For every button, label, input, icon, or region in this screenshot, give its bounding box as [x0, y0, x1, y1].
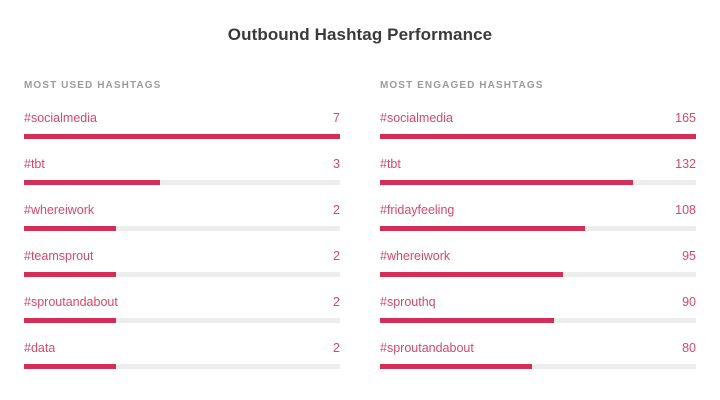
- bar-fill: [380, 318, 554, 323]
- bar-track: [380, 134, 696, 139]
- hashtag-label: #tbt: [24, 156, 45, 172]
- list-item[interactable]: #fridayfeeling 108: [380, 202, 696, 231]
- column-most-engaged: MOST ENGAGED HASHTAGS #socialmedia 165 #…: [380, 79, 696, 369]
- hashtag-value: 165: [665, 110, 696, 126]
- hashtag-label: #whereiwork: [24, 202, 94, 218]
- hashtag-value: 90: [672, 294, 696, 310]
- hashtag-value: 2: [323, 294, 340, 310]
- hashtag-value: 132: [665, 156, 696, 172]
- columns-container: MOST USED HASHTAGS #socialmedia 7 #tbt 3: [0, 79, 720, 369]
- bar-track: [380, 318, 696, 323]
- row-top: #sproutandabout 80: [380, 340, 696, 356]
- list-item[interactable]: #whereiwork 95: [380, 248, 696, 277]
- column-header-most-used: MOST USED HASHTAGS: [24, 79, 340, 93]
- bar-fill: [24, 318, 116, 323]
- hashtag-list-most-engaged: #socialmedia 165 #tbt 132: [380, 110, 696, 369]
- bar-track: [24, 180, 340, 185]
- bar-track: [24, 318, 340, 323]
- hashtag-label: #tbt: [380, 156, 401, 172]
- bar-track: [380, 180, 696, 185]
- list-item[interactable]: #sprouthq 90: [380, 294, 696, 323]
- row-top: #fridayfeeling 108: [380, 202, 696, 218]
- bar-fill: [24, 364, 116, 369]
- hashtag-label: #fridayfeeling: [380, 202, 454, 218]
- list-item[interactable]: #tbt 132: [380, 156, 696, 185]
- bar-fill: [380, 134, 696, 139]
- hashtag-value: 2: [323, 340, 340, 356]
- bar-track: [380, 272, 696, 277]
- row-top: #socialmedia 165: [380, 110, 696, 126]
- bar-fill: [380, 226, 585, 231]
- bar-track: [380, 364, 696, 369]
- row-top: #tbt 132: [380, 156, 696, 172]
- bar-track: [24, 134, 340, 139]
- list-item[interactable]: #socialmedia 165: [380, 110, 696, 139]
- row-top: #sprouthq 90: [380, 294, 696, 310]
- row-top: #tbt 3: [24, 156, 340, 172]
- hashtag-label: #data: [24, 340, 55, 356]
- hashtag-value: 3: [323, 156, 340, 172]
- bar-fill: [380, 364, 532, 369]
- hashtag-value: 2: [323, 202, 340, 218]
- row-top: #teamsprout 2: [24, 248, 340, 264]
- list-item[interactable]: #sproutandabout 80: [380, 340, 696, 369]
- bar-track: [380, 226, 696, 231]
- column-header-most-engaged: MOST ENGAGED HASHTAGS: [380, 79, 696, 93]
- page-title: Outbound Hashtag Performance: [0, 0, 720, 46]
- column-most-used: MOST USED HASHTAGS #socialmedia 7 #tbt 3: [24, 79, 340, 369]
- hashtag-value: 80: [672, 340, 696, 356]
- list-item[interactable]: #tbt 3: [24, 156, 340, 185]
- bar-fill: [24, 226, 116, 231]
- list-item[interactable]: #sproutandabout 2: [24, 294, 340, 323]
- list-item[interactable]: #data 2: [24, 340, 340, 369]
- hashtag-performance-report: Outbound Hashtag Performance MOST USED H…: [0, 0, 720, 400]
- row-top: #data 2: [24, 340, 340, 356]
- row-top: #whereiwork 2: [24, 202, 340, 218]
- row-top: #sproutandabout 2: [24, 294, 340, 310]
- bar-track: [24, 226, 340, 231]
- bar-track: [24, 364, 340, 369]
- row-top: #socialmedia 7: [24, 110, 340, 126]
- hashtag-label: #sprouthq: [380, 294, 436, 310]
- hashtag-label: #teamsprout: [24, 248, 93, 264]
- hashtag-value: 2: [323, 248, 340, 264]
- bar-fill: [24, 272, 116, 277]
- hashtag-value: 95: [672, 248, 696, 264]
- hashtag-label: #sproutandabout: [380, 340, 474, 356]
- list-item[interactable]: #whereiwork 2: [24, 202, 340, 231]
- bar-fill: [380, 272, 563, 277]
- bar-fill: [24, 180, 160, 185]
- bar-fill: [24, 134, 340, 139]
- list-item[interactable]: #teamsprout 2: [24, 248, 340, 277]
- hashtag-label: #socialmedia: [380, 110, 453, 126]
- hashtag-value: 108: [665, 202, 696, 218]
- hashtag-value: 7: [323, 110, 340, 126]
- hashtag-label: #socialmedia: [24, 110, 97, 126]
- list-item[interactable]: #socialmedia 7: [24, 110, 340, 139]
- hashtag-list-most-used: #socialmedia 7 #tbt 3: [24, 110, 340, 369]
- bar-fill: [380, 180, 633, 185]
- bar-track: [24, 272, 340, 277]
- row-top: #whereiwork 95: [380, 248, 696, 264]
- hashtag-label: #whereiwork: [380, 248, 450, 264]
- hashtag-label: #sproutandabout: [24, 294, 118, 310]
